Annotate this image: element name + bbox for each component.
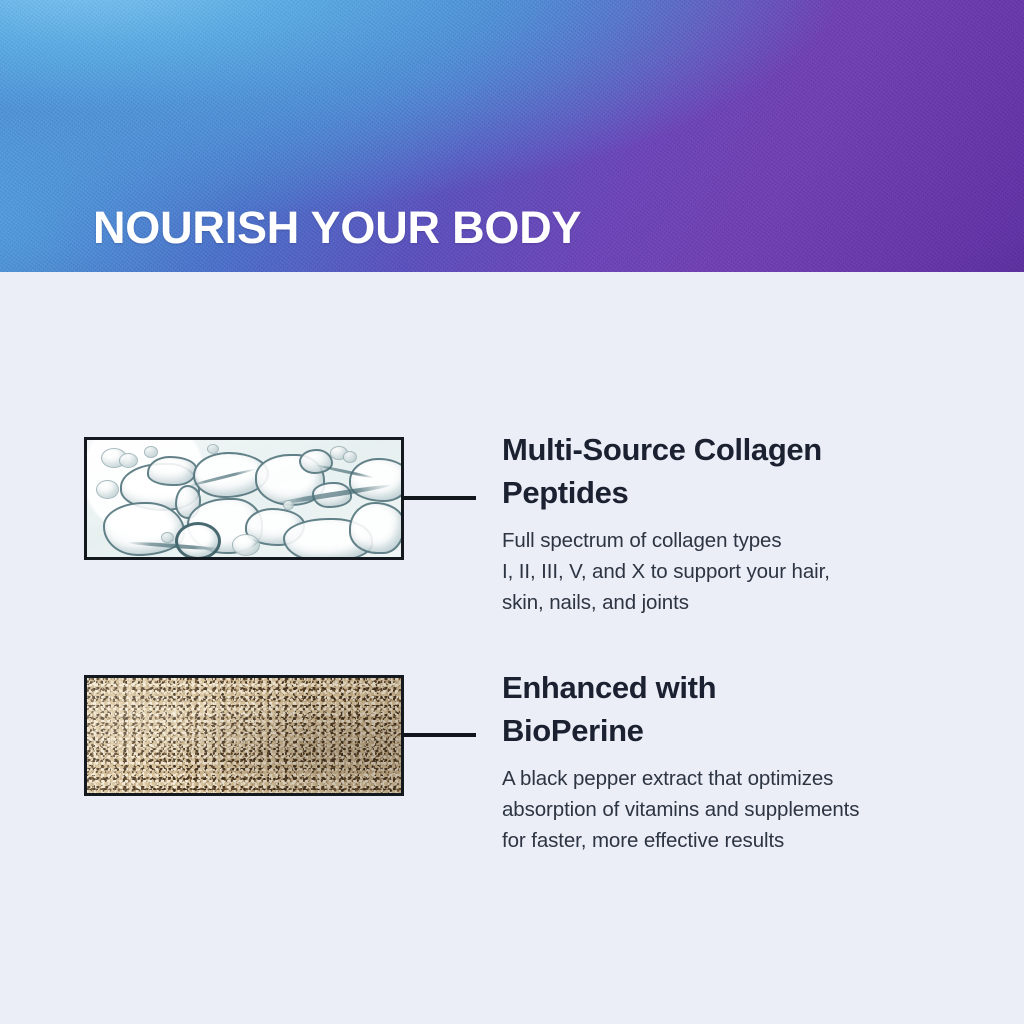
page-headline: NOURISH YOUR BODY WITH BEAUTY & IMMUNITY [93, 70, 680, 272]
headline-line-1: NOURISH YOUR BODY [93, 196, 680, 259]
connector-line [404, 733, 476, 737]
feature-text-block: Multi-Source Collagen Peptides Full spec… [502, 428, 1002, 618]
feature-title: Multi-Source Collagen Peptides [502, 428, 1002, 514]
feature-description: A black pepper extract that optimizes ab… [502, 763, 1002, 856]
gel-texture-base [87, 440, 401, 557]
feature-description: Full spectrum of collagen types I, II, I… [502, 525, 1002, 618]
feature-text-block: Enhanced with BioPerine A black pepper e… [502, 666, 1002, 856]
header-banner: NOURISH YOUR BODY WITH BEAUTY & IMMUNITY [0, 0, 1024, 272]
collagen-gel-bubbles-photo [84, 437, 404, 560]
connector-line [404, 496, 476, 500]
feature-title: Enhanced with BioPerine [502, 666, 1002, 752]
ground-black-pepper-photo [84, 675, 404, 796]
pepper-texture-shading [87, 678, 401, 793]
